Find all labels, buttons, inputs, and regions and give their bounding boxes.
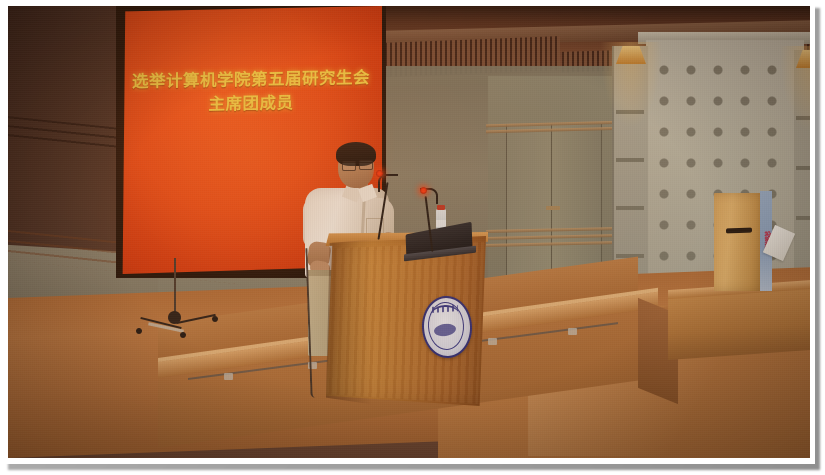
tripod-foot [136, 328, 142, 334]
cable-tape [224, 373, 233, 380]
door-handle[interactable] [546, 206, 560, 210]
cable-tape [568, 328, 577, 335]
ballot-box-slot [726, 228, 752, 234]
slide-text-line2: 主席团成员 [126, 90, 376, 118]
microphone-led-indicator-right [420, 187, 427, 194]
shelf [616, 206, 644, 210]
photo-frame: 选举计算机学院第五届研究生会 主席团成员 投票箱 [0, 0, 825, 475]
conference-photo: 选举计算机学院第五届研究生会 主席团成员 投票箱 [8, 6, 810, 458]
microphone-head-curve-left [378, 174, 398, 192]
slide-text: 选举计算机学院第五届研究生会 主席团成员 [126, 66, 376, 118]
microphone-led-indicator-left [376, 170, 383, 177]
tripod-foot [180, 332, 186, 338]
podium-shading [326, 238, 372, 406]
shelf [796, 166, 810, 170]
shelf [616, 158, 644, 162]
shelf [796, 216, 810, 220]
eyeglasses-bridge [342, 162, 372, 170]
water-bottle-cap [437, 205, 445, 210]
cable-tape [488, 338, 497, 345]
slide-text-line1: 选举计算机学院第五届研究生会 [132, 68, 370, 91]
tripod-foot [212, 316, 218, 322]
tripod-pole [174, 258, 176, 316]
